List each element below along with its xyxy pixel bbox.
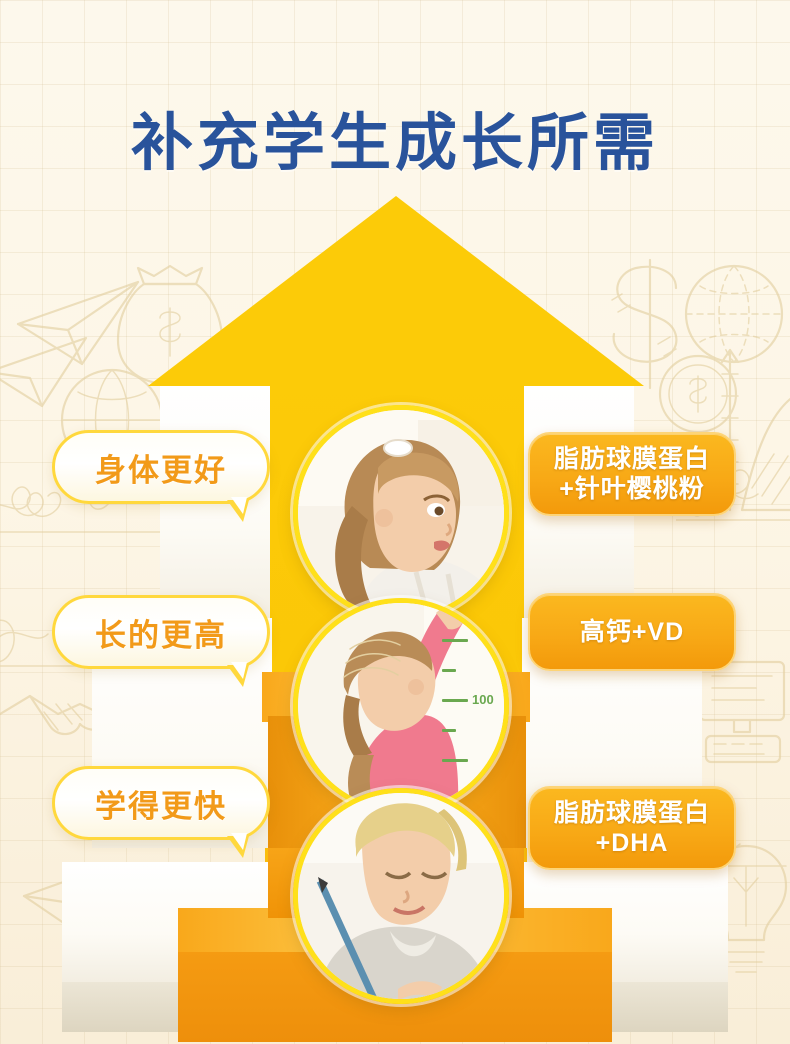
- benefit-label-3: 学得更快: [95, 781, 227, 826]
- photo-girl-measuring-height: 100: [298, 603, 504, 809]
- photo-circle-1: [293, 405, 509, 621]
- benefit-label-1: 身体更好: [95, 445, 227, 490]
- ingredient-line-1b: +针叶樱桃粉: [559, 475, 705, 503]
- portrait-illustration-3: [298, 793, 504, 999]
- ruler-value: 100: [472, 692, 494, 707]
- ingredient-label-1: 脂肪球膜蛋白 +针叶樱桃粉: [554, 444, 710, 505]
- photo-girl-ponytail: [298, 410, 504, 616]
- photo-circle-2: 100: [293, 598, 509, 814]
- ingredient-line-2a: 高钙+VD: [580, 618, 684, 646]
- ingredient-line-3a: 脂肪球膜蛋白: [554, 799, 710, 827]
- photo-child-writing: [298, 793, 504, 999]
- ingredient-line-3b: +DHA: [596, 829, 669, 857]
- ingredient-tag-1[interactable]: 脂肪球膜蛋白 +针叶樱桃粉: [528, 432, 736, 516]
- portrait-illustration-1: [298, 410, 504, 616]
- benefit-bubble-2[interactable]: 长的更高: [52, 595, 270, 669]
- bubble-tail-3: [227, 836, 249, 858]
- ingredient-label-3: 脂肪球膜蛋白 +DHA: [554, 798, 710, 859]
- ingredient-tag-3[interactable]: 脂肪球膜蛋白 +DHA: [528, 786, 736, 870]
- arrow-head-shape: [148, 196, 644, 386]
- ingredient-tag-2[interactable]: 高钙+VD: [528, 593, 736, 671]
- benefit-label-2: 长的更高: [95, 610, 227, 655]
- height-ruler: 100: [438, 603, 504, 809]
- bubble-tail-1: [227, 500, 249, 522]
- benefit-bubble-1[interactable]: 身体更好: [52, 430, 270, 504]
- promo-poster: 补充学生成长所需: [0, 0, 790, 1044]
- photo-circle-3: [293, 788, 509, 1004]
- benefit-bubble-3[interactable]: 学得更快: [52, 766, 270, 840]
- bubble-tail-2: [227, 665, 249, 687]
- step-tread-1-left: [160, 386, 270, 622]
- ingredient-label-2: 高钙+VD: [580, 617, 684, 648]
- ingredient-line-1a: 脂肪球膜蛋白: [554, 445, 710, 473]
